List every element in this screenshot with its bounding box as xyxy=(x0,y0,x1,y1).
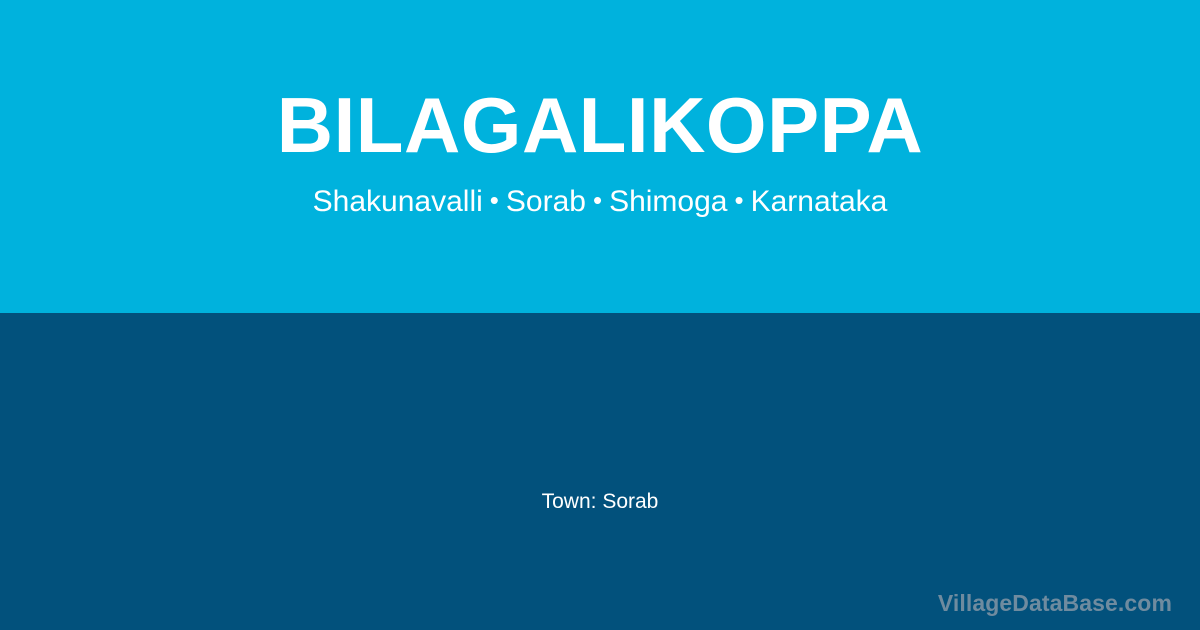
breadcrumb-item-district: Shimoga xyxy=(609,185,727,218)
detail-panel: Town: Sorab VillageDataBase.com xyxy=(0,313,1200,630)
breadcrumb-item-village: Shakunavalli xyxy=(313,185,483,218)
breadcrumb-item-town: Sorab xyxy=(506,185,586,218)
site-watermark: VillageDataBase.com xyxy=(938,589,1172,617)
detail-town: Town: Sorab xyxy=(0,488,1200,516)
breadcrumb-item-state: Karnataka xyxy=(751,185,888,218)
breadcrumb-separator-icon: • xyxy=(586,181,609,219)
hero-banner: BILAGALIKOPPA Shakunavalli•Sorab•Shimoga… xyxy=(0,0,1200,313)
breadcrumb-separator-icon: • xyxy=(727,181,750,219)
village-info-card: BILAGALIKOPPA Shakunavalli•Sorab•Shimoga… xyxy=(0,0,1200,630)
breadcrumb-separator-icon: • xyxy=(483,181,506,219)
page-title: BILAGALIKOPPA xyxy=(0,78,1200,172)
breadcrumb: Shakunavalli•Sorab•Shimoga•Karnataka xyxy=(0,181,1200,221)
